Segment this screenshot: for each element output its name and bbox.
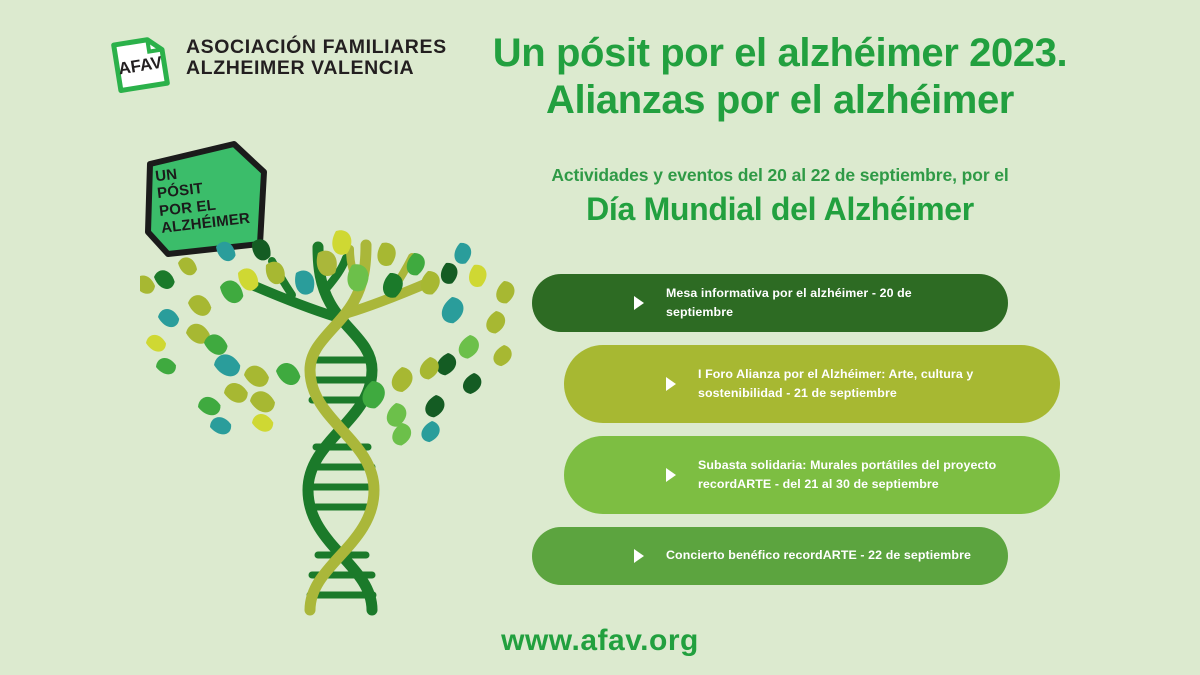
- event-label: Concierto benéfico recordARTE - 22 de se…: [666, 546, 971, 565]
- afav-logo: AFAV ASOCIACIÓN FAMILIARES ALZHEIMER VAL…: [110, 33, 370, 95]
- dna-tree-illustration: [140, 225, 560, 635]
- event-label: I Foro Alianza por el Alzhéimer: Arte, c…: [698, 365, 1034, 403]
- event-label: Subasta solidaria: Murales portátiles de…: [698, 456, 1034, 494]
- banner-left-cap: [564, 436, 624, 514]
- page-subtitle: Actividades y eventos del 20 al 22 de se…: [400, 165, 1160, 229]
- triangle-right-icon: [666, 468, 676, 482]
- title-line-1: Un pósit por el alzhéimer 2023.: [400, 30, 1160, 77]
- event-banner-2[interactable]: I Foro Alianza por el Alzhéimer: Arte, c…: [620, 345, 1060, 423]
- triangle-right-icon: [634, 549, 644, 563]
- event-banner-4[interactable]: Concierto benéfico recordARTE - 22 de se…: [588, 527, 1008, 585]
- subtitle-main: Día Mundial del Alzhéimer: [400, 189, 1160, 229]
- banner-left-cap: [532, 527, 592, 585]
- event-banner-3[interactable]: Subasta solidaria: Murales portátiles de…: [620, 436, 1060, 514]
- banner-left-cap: [532, 274, 592, 332]
- events-list: Mesa informativa por el alzhéimer - 20 d…: [588, 274, 1048, 598]
- afav-mark-icon: AFAV: [110, 35, 172, 93]
- title-line-2: Alianzas por el alzhéimer: [400, 77, 1160, 124]
- banner-left-cap: [564, 345, 624, 423]
- subtitle-dates: Actividades y eventos del 20 al 22 de se…: [400, 165, 1160, 186]
- event-label: Mesa informativa por el alzhéimer - 20 d…: [666, 284, 982, 322]
- triangle-right-icon: [634, 296, 644, 310]
- website-url[interactable]: www.afav.org: [0, 624, 1200, 658]
- triangle-right-icon: [666, 377, 676, 391]
- page-title: Un pósit por el alzhéimer 2023. Alianzas…: [400, 30, 1160, 124]
- event-banner-1[interactable]: Mesa informativa por el alzhéimer - 20 d…: [588, 274, 1008, 332]
